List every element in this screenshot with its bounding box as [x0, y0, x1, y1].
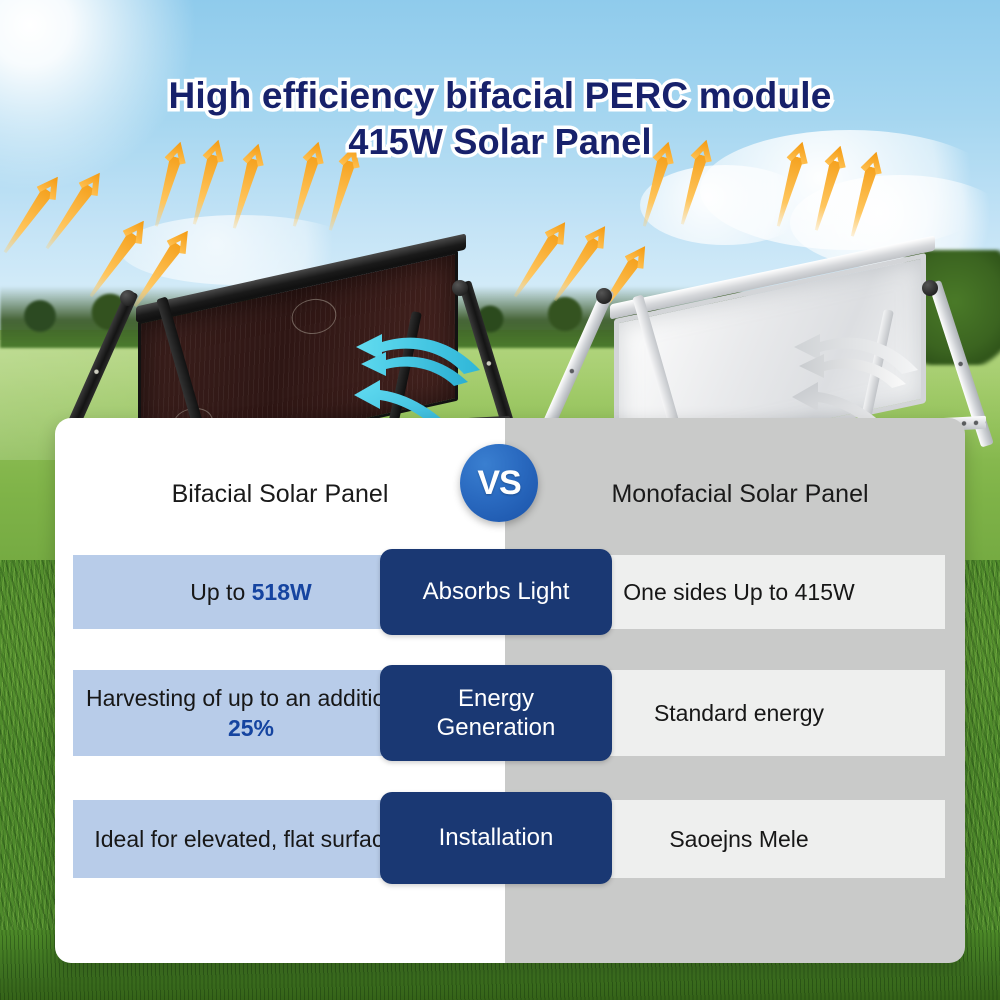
- bifacial-value-text: Up to 518W: [190, 577, 311, 607]
- value-highlight: 25%: [228, 715, 274, 741]
- feature-label-text: EnergyGeneration: [437, 684, 556, 743]
- value-prefix: Up to: [190, 579, 251, 605]
- value-highlight: 518W: [252, 579, 312, 605]
- table-row: Harvesting of up to an additional 25% En…: [55, 670, 965, 756]
- feature-label-absorbs-light: Absorbs Light: [380, 549, 612, 635]
- table-row: Ideal for elevated, flat surfaces Instal…: [55, 800, 965, 878]
- feature-label-energy-generation: EnergyGeneration: [380, 665, 612, 761]
- bifacial-column-header: Bifacial Solar Panel: [65, 480, 495, 509]
- feature-line-2: Generation: [437, 714, 556, 741]
- feature-label-installation: Installation: [380, 792, 612, 884]
- monofacial-value-text: Standard energy: [654, 698, 824, 728]
- monofacial-value-text: One sides Up to 415W: [623, 577, 854, 607]
- comparison-table: VS Bifacial Solar Panel Monofacial Solar…: [55, 418, 965, 963]
- feature-line-1: Energy: [458, 685, 534, 712]
- table-row: Up to 518W Absorbs Light One sides Up to…: [55, 555, 965, 629]
- bifacial-value-text: Ideal for elevated, flat surfaces: [94, 824, 407, 854]
- bifacial-value-text: Harvesting of up to an additional 25%: [73, 683, 429, 744]
- monofacial-value-text: Saoejns Mele: [669, 824, 808, 854]
- vs-badge: VS: [460, 444, 538, 522]
- monofacial-column-header: Monofacial Solar Panel: [525, 480, 955, 509]
- background-scene: High efficiency bifacial PERC module 415…: [0, 0, 1000, 1000]
- value-prefix: Harvesting of up to an additional: [86, 685, 416, 711]
